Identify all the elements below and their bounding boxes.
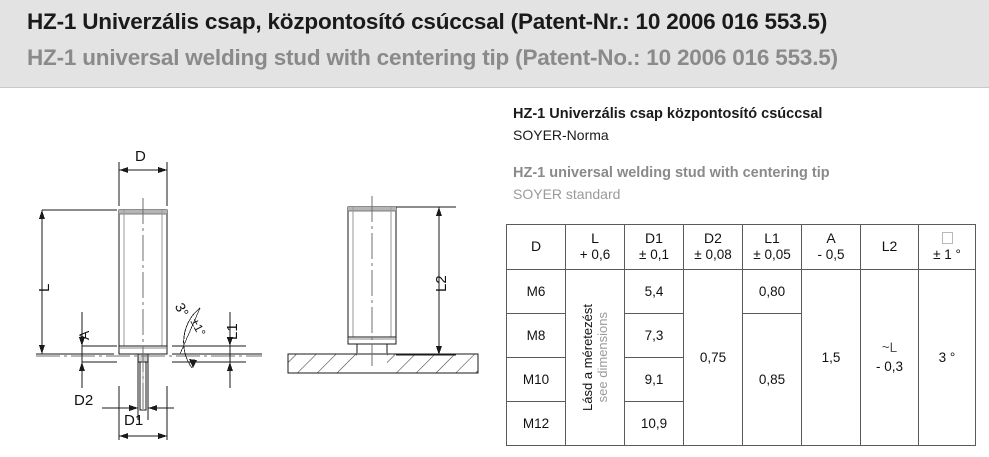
header-band: HZ-1 Univerzális csap, központosító csúc… xyxy=(0,0,989,88)
product-norm-hungarian: SOYER-Norma xyxy=(513,125,983,146)
drawing-stud-dimensions: D L A L1 D2 D1 3° ±1° xyxy=(14,140,284,452)
header-cell-l1: L1 ± 0,05 xyxy=(743,225,802,270)
stud-dimension-svg xyxy=(14,140,284,452)
cell-l1-rest: 0,85 xyxy=(743,314,802,446)
product-name-english: HZ-1 universal welding stud with centeri… xyxy=(513,163,983,184)
header-cell-d2: D2 ± 0,08 xyxy=(684,225,743,270)
cell-d1-m6: 5,4 xyxy=(625,270,684,314)
header-cell-d: D xyxy=(507,225,566,270)
dim-label-d: D xyxy=(135,148,146,165)
product-norm-english: SOYER standard xyxy=(513,184,983,205)
cell-d-m10: M10 xyxy=(507,358,566,402)
cell-angle-all: 3 ° xyxy=(919,270,976,446)
product-name-hungarian: HZ-1 Univerzális csap központosító csúcc… xyxy=(513,104,983,125)
product-description: HZ-1 Univerzális csap központosító csúcc… xyxy=(513,104,983,205)
welded-stud-svg xyxy=(284,188,500,380)
header-cell-a: A - 0,5 xyxy=(802,225,861,270)
l-note-hungarian: Lásd a méretezést xyxy=(581,304,594,411)
cell-l1-m6: 0,80 xyxy=(743,270,802,314)
dim-label-d1: D1 xyxy=(124,412,143,429)
header-cell-l2: L2 xyxy=(861,225,919,270)
cell-a-all: 1,5 xyxy=(802,270,861,446)
cell-d-m6: M6 xyxy=(507,270,566,314)
dim-label-l: L xyxy=(36,284,53,292)
specification-table: D L + 0,6 D1 ± 0,1 D2 ± 0,08 L1 ± 0,0 xyxy=(506,224,976,446)
cell-d-m12: M12 xyxy=(507,402,566,446)
title-english: HZ-1 universal welding stud with centeri… xyxy=(27,45,838,71)
header-cell-angle: ± 1 ° xyxy=(919,225,976,270)
cell-d1-m10: 9,1 xyxy=(625,358,684,402)
header-cell-d1: D1 ± 0,1 xyxy=(625,225,684,270)
cell-d1-m12: 10,9 xyxy=(625,402,684,446)
l-note-english: see dimensions xyxy=(596,312,609,402)
header-cell-l: L + 0,6 xyxy=(566,225,625,270)
dim-label-a: A xyxy=(76,331,92,340)
title-hungarian: HZ-1 Univerzális csap, központosító csúc… xyxy=(27,9,827,35)
cell-l-note: Lásd a méretezést see dimensions xyxy=(566,270,625,446)
table-row: M6 Lásd a méretezést see dimensions 5,4 … xyxy=(507,270,976,314)
square-tolerance-icon xyxy=(919,230,975,248)
drawing-stud-welded: L2 xyxy=(284,188,500,380)
dim-label-l2: L2 xyxy=(433,275,450,292)
datasheet-page: HZ-1 Univerzális csap, központosító csúc… xyxy=(0,0,989,456)
table-header-row: D L + 0,6 D1 ± 0,1 D2 ± 0,08 L1 ± 0,0 xyxy=(507,225,976,270)
cell-l2-all: ~L - 0,3 xyxy=(861,270,919,446)
cell-d-m8: M8 xyxy=(507,314,566,358)
dim-label-d2: D2 xyxy=(74,392,93,409)
dim-label-l1: L1 xyxy=(224,323,241,340)
cell-d1-m8: 7,3 xyxy=(625,314,684,358)
cell-d2-all: 0,75 xyxy=(684,270,743,446)
